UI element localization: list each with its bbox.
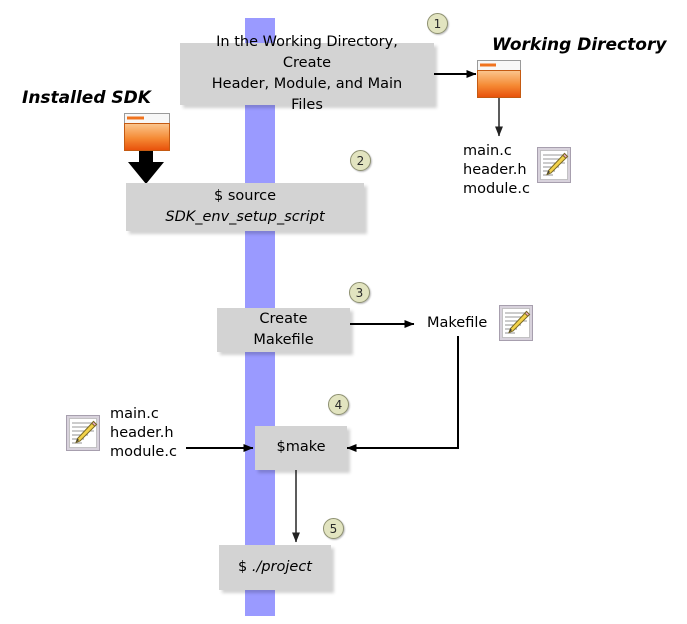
- folder-icon: [477, 60, 521, 98]
- document-edit-icon: [66, 415, 100, 451]
- source-cmd-prefix: $ source: [214, 188, 276, 204]
- working-directory-title: Working Directory: [492, 35, 666, 55]
- makefile-label: Makefile: [427, 314, 487, 333]
- make-box[interactable]: $make: [255, 426, 347, 470]
- run-cmd-prefix: $: [238, 559, 252, 575]
- installed-sdk-title: Installed SDK: [22, 88, 151, 108]
- create-files-box[interactable]: In the Working Directory, Create Header,…: [180, 43, 434, 105]
- step-badge-4: 4: [328, 394, 349, 415]
- source-cmd-arg: SDK_env_setup_script: [165, 209, 324, 225]
- document-edit-icon: [499, 305, 533, 341]
- run-project-box[interactable]: $ ./project: [219, 545, 331, 590]
- step-badge-2-number: 2: [357, 154, 365, 168]
- step-badge-5-number: 5: [330, 522, 338, 536]
- run-cmd-arg: ./project: [252, 559, 312, 575]
- create-makefile-box[interactable]: Create Makefile: [217, 308, 350, 352]
- step-badge-4-number: 4: [335, 398, 343, 412]
- document-edit-icon: [537, 147, 571, 183]
- make-input-file-list: main.c header.h module.c: [110, 405, 177, 462]
- step-badge-5: 5: [323, 518, 344, 539]
- diagram-canvas: Installed SDK Working Directory 1 2 3 4 …: [0, 0, 687, 624]
- step-badge-1-number: 1: [434, 17, 442, 31]
- working-directory-file-list: main.c header.h module.c: [463, 142, 530, 199]
- step-badge-3-number: 3: [356, 286, 364, 300]
- step-badge-3: 3: [349, 282, 370, 303]
- folder-icon: [124, 113, 170, 151]
- source-sdk-box[interactable]: $ source SDK_env_setup_script: [126, 183, 364, 231]
- step-badge-1: 1: [427, 13, 448, 34]
- step-badge-2: 2: [350, 150, 371, 171]
